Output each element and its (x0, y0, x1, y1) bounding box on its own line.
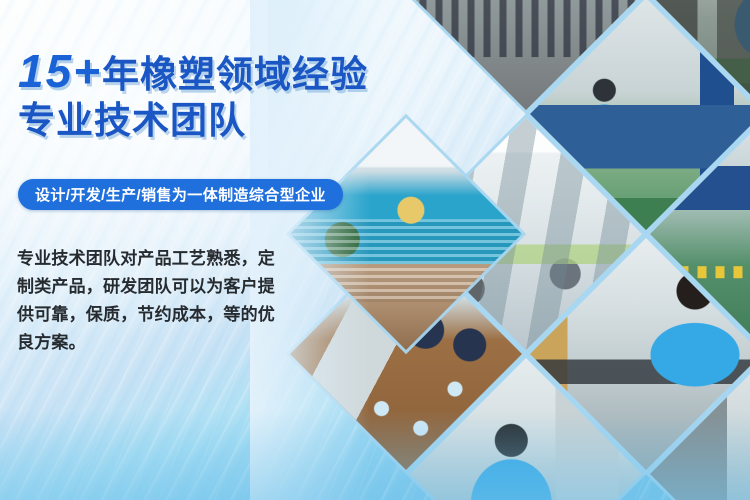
company-capability-banner: 15+年橡塑领域经验 专业技术团队 设计/开发/生产/销售为一体制造综合型企业 … (0, 0, 750, 500)
headline-years-number: 15+ (18, 45, 102, 97)
headline: 15+年橡塑领域经验 专业技术团队 (18, 48, 368, 141)
body-paragraph: 专业技术团队对产品工艺熟悉，定制类产品，研发团队可以为客户提供可靠，保质，节约成… (17, 245, 285, 357)
capability-badge: 设计/开发/生产/销售为一体制造综合型企业 (18, 179, 343, 210)
capability-badge-label: 设计/开发/生产/销售为一体制造综合型企业 (35, 184, 326, 205)
headline-line-2: 专业技术团队 (18, 102, 368, 141)
headline-line-1: 15+年橡塑领域经验 (18, 48, 368, 94)
text-column: 15+年橡塑领域经验 专业技术团队 设计/开发/生产/销售为一体制造综合型企业 … (0, 0, 360, 500)
headline-years-suffix: 年橡塑领域经验 (102, 54, 368, 95)
